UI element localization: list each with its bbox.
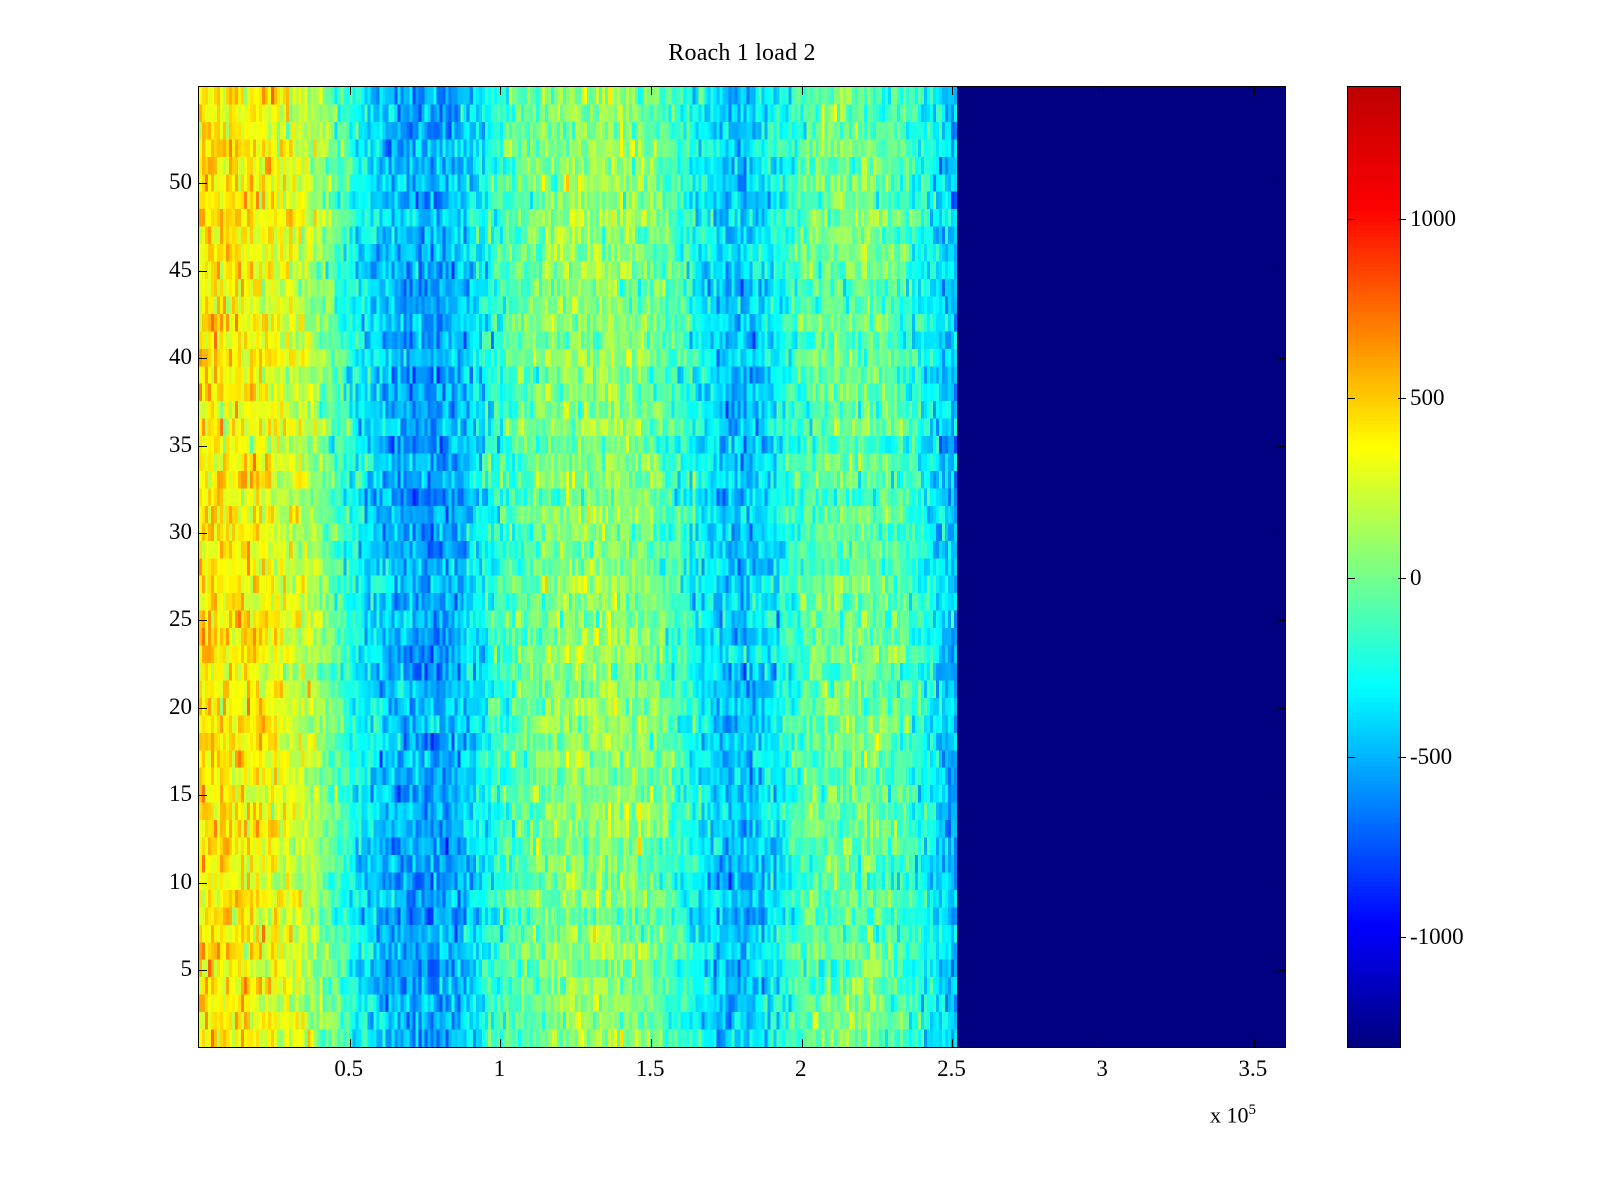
x-axis-tick xyxy=(1103,1039,1104,1047)
x-axis-tick-label: 3 xyxy=(1096,1056,1108,1082)
y-axis-tick xyxy=(199,620,207,621)
x-axis-tick-label: 1.5 xyxy=(636,1056,665,1082)
x-axis-tick xyxy=(802,87,803,95)
y-axis-tick-label: 25 xyxy=(169,606,192,632)
colorbar-tick-label: 1000 xyxy=(1410,206,1456,232)
colorbar-tick-label: 0 xyxy=(1410,565,1422,591)
y-axis-tick xyxy=(199,183,207,184)
colorbar-tick xyxy=(1398,757,1406,758)
y-axis-tick-label: 15 xyxy=(169,781,192,807)
x-axis-tick xyxy=(1254,1039,1255,1047)
y-axis-tick xyxy=(1277,533,1285,534)
x-axis-tick xyxy=(350,1039,351,1047)
y-axis-tick-label: 40 xyxy=(169,344,192,370)
y-axis-tick xyxy=(199,795,207,796)
y-axis-tick xyxy=(1277,708,1285,709)
y-axis-tick-label: 35 xyxy=(169,432,192,458)
y-axis-tick xyxy=(1277,620,1285,621)
x-axis-tick-label: 3.5 xyxy=(1238,1056,1267,1082)
y-axis-tick xyxy=(199,271,207,272)
colorbar-tick-label: -1000 xyxy=(1410,924,1464,950)
x-axis-tick xyxy=(500,1039,501,1047)
x-axis-tick xyxy=(952,1039,953,1047)
x-axis-tick xyxy=(1254,87,1255,95)
colorbar-tick xyxy=(1398,219,1406,220)
y-axis-tick-label: 5 xyxy=(181,956,193,982)
y-axis-tick xyxy=(199,883,207,884)
figure-title: Roach 1 load 2 xyxy=(0,40,1484,67)
y-axis-tick-label: 50 xyxy=(169,169,192,195)
colorbar-tick-label: 500 xyxy=(1410,385,1445,411)
matlab-figure: Roach 1 load 2 x 105 0.511.522.533.55101… xyxy=(0,0,1600,1200)
y-axis-tick xyxy=(1277,970,1285,971)
colorbar-tick xyxy=(1398,937,1406,938)
y-axis-tick xyxy=(199,533,207,534)
y-axis-tick-label: 30 xyxy=(169,519,192,545)
y-axis-tick xyxy=(1277,271,1285,272)
y-axis-tick xyxy=(1277,183,1285,184)
y-axis-tick-label: 20 xyxy=(169,694,192,720)
x-axis-tick-label: 0.5 xyxy=(334,1056,363,1082)
colorbar-tick xyxy=(1347,937,1355,938)
y-axis-tick xyxy=(1277,795,1285,796)
x-axis-tick xyxy=(500,87,501,95)
x-axis-tick xyxy=(1103,87,1104,95)
y-axis-tick xyxy=(199,358,207,359)
colorbar-tick-label: -500 xyxy=(1410,744,1452,770)
exponent-prefix: x 10 xyxy=(1210,1102,1249,1127)
x-axis-tick xyxy=(651,1039,652,1047)
x-axis-tick-label: 2.5 xyxy=(937,1056,966,1082)
y-axis-tick xyxy=(199,970,207,971)
y-axis-tick-label: 45 xyxy=(169,257,192,283)
colorbar-tick xyxy=(1347,757,1355,758)
colorbar-tick xyxy=(1347,219,1355,220)
colorbar-tick xyxy=(1398,398,1406,399)
y-axis-tick xyxy=(199,446,207,447)
y-axis-tick-label: 10 xyxy=(169,869,192,895)
colorbar-tick xyxy=(1347,398,1355,399)
y-axis-tick xyxy=(1277,446,1285,447)
x-axis-tick xyxy=(802,1039,803,1047)
y-axis-tick xyxy=(1277,883,1285,884)
colorbar[interactable] xyxy=(1347,86,1401,1048)
heatmap-image xyxy=(199,87,1285,1047)
x-axis-tick-label: 2 xyxy=(795,1056,807,1082)
x-axis-tick xyxy=(952,87,953,95)
colorbar-tick xyxy=(1347,578,1355,579)
y-axis-tick xyxy=(199,708,207,709)
y-axis-tick xyxy=(1277,358,1285,359)
x-axis-tick xyxy=(350,87,351,95)
x-axis-exponent-label: x 105 xyxy=(1210,1102,1256,1128)
heatmap-axes[interactable] xyxy=(198,86,1286,1048)
x-axis-tick xyxy=(651,87,652,95)
exponent-power: 5 xyxy=(1249,1102,1256,1118)
colorbar-tick xyxy=(1398,578,1406,579)
x-axis-tick-label: 1 xyxy=(494,1056,506,1082)
